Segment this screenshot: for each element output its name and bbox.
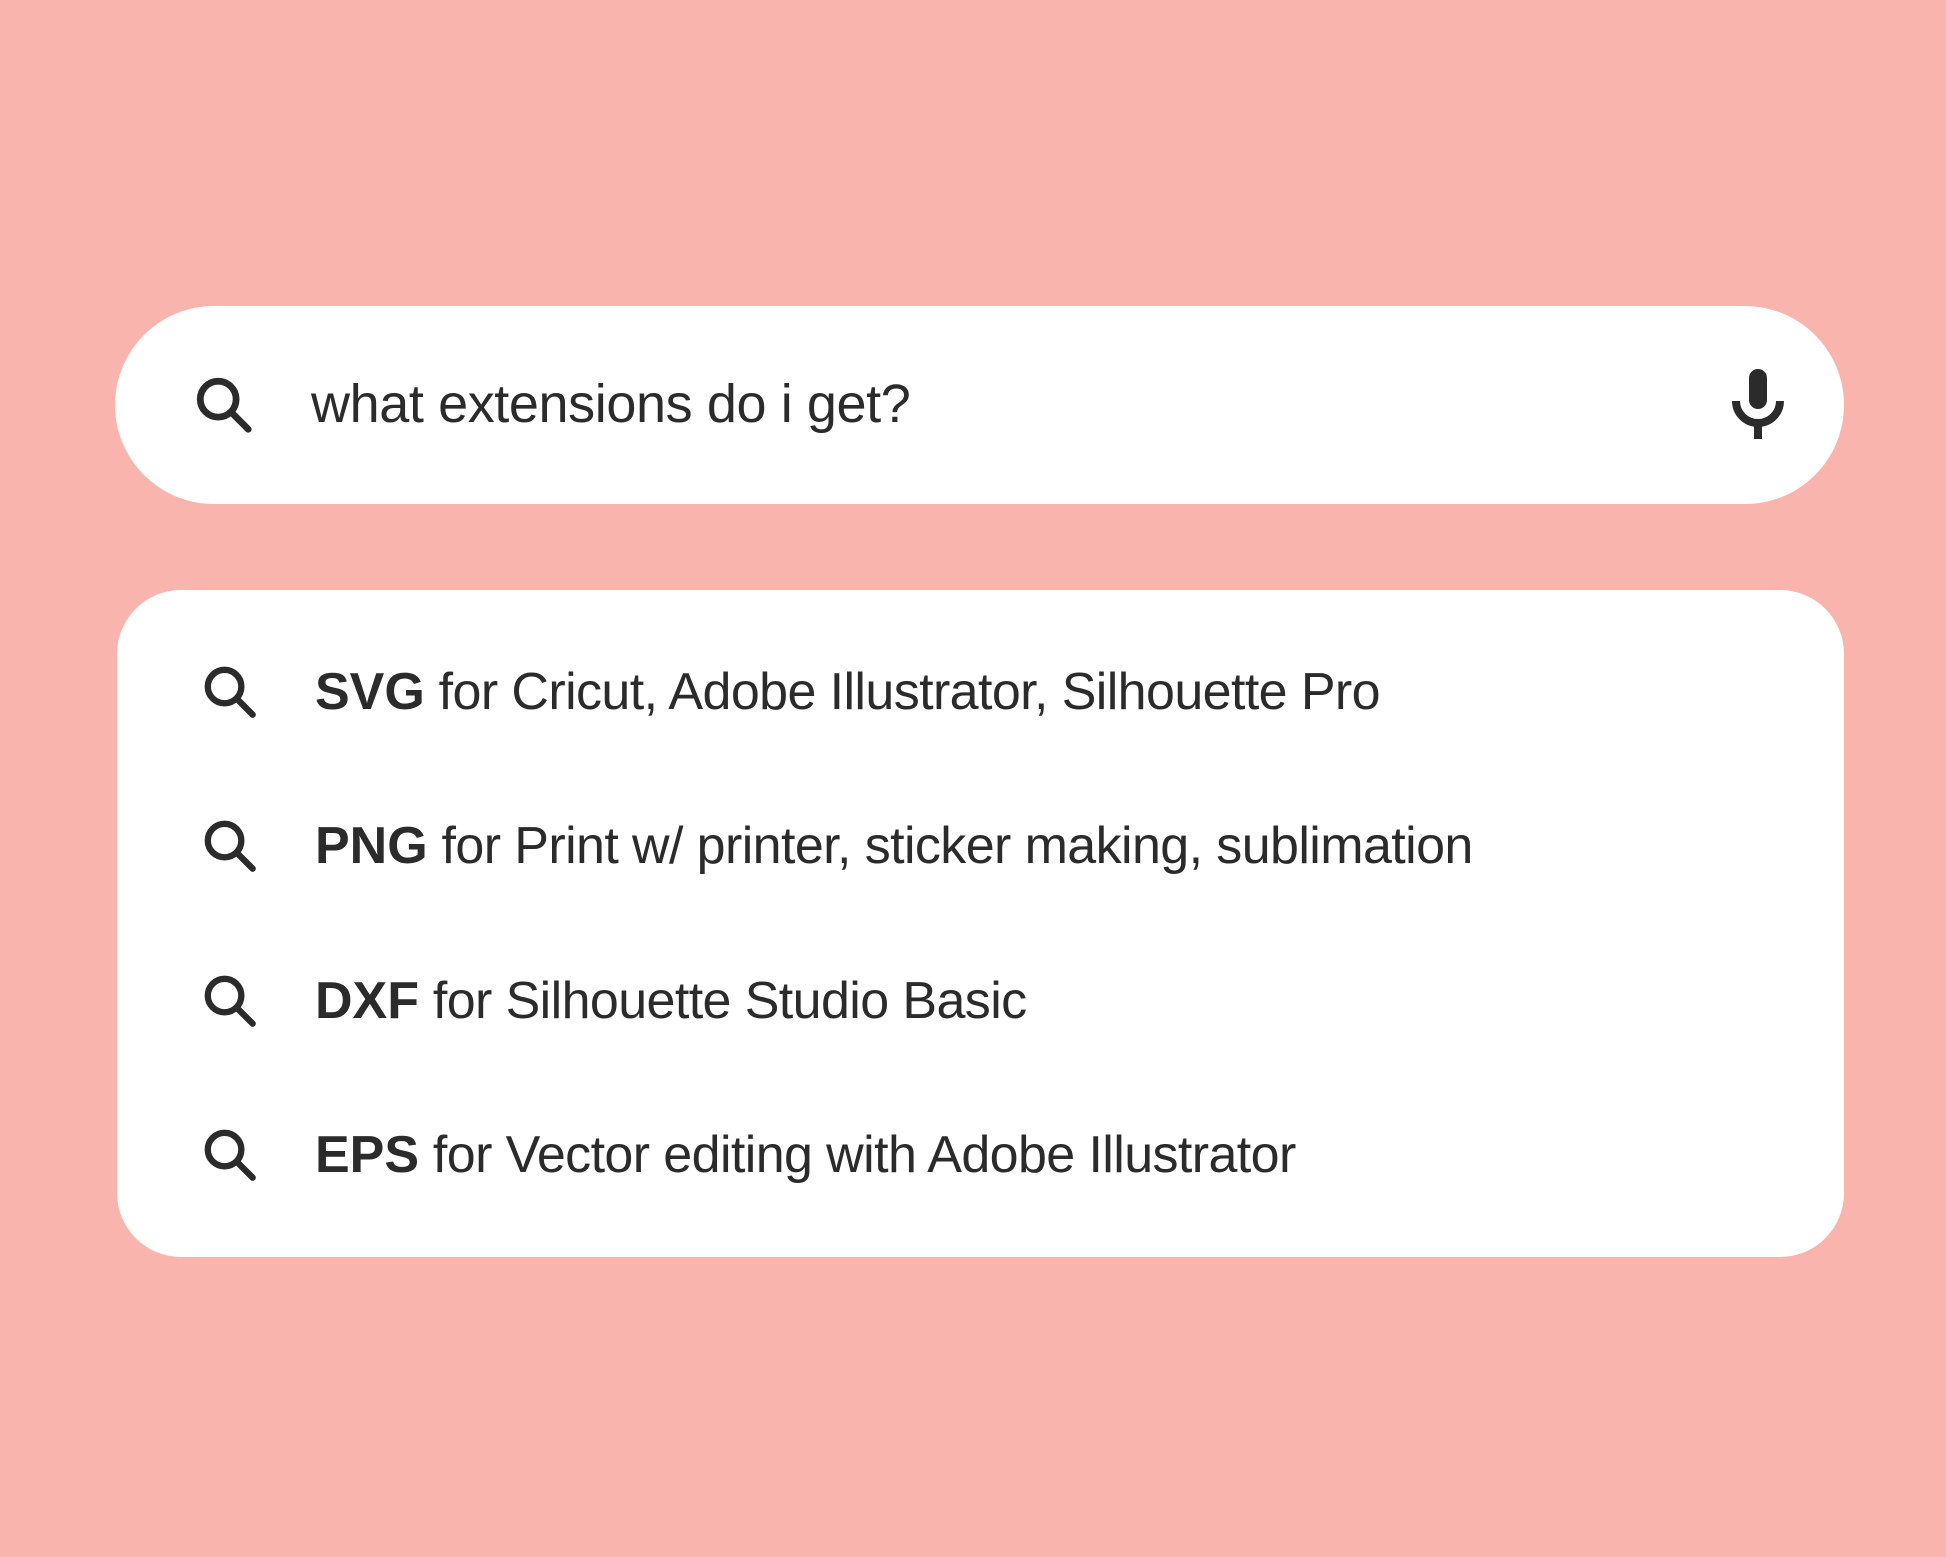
search-icon	[193, 374, 255, 436]
suggestion-description: for Print w/ printer, sticker making, su…	[428, 817, 1473, 875]
search-icon	[201, 663, 259, 721]
suggestion-description: for Vector editing with Adobe Illustrato…	[419, 1126, 1296, 1184]
suggestion-term: DXF	[315, 972, 419, 1030]
suggestion-description: for Cricut, Adobe Illustrator, Silhouett…	[425, 663, 1380, 721]
page-root: what extensions do i get? SVG for Cricut…	[0, 0, 1946, 1557]
suggestion-label: SVG for Cricut, Adobe Illustrator, Silho…	[315, 663, 1380, 721]
suggestion-term: EPS	[315, 1126, 419, 1184]
list-item[interactable]: PNG for Print w/ printer, sticker making…	[117, 790, 1844, 902]
suggestion-label: PNG for Print w/ printer, sticker making…	[315, 817, 1473, 875]
microphone-icon[interactable]	[1730, 367, 1786, 443]
suggestions-list: SVG for Cricut, Adobe Illustrator, Silho…	[117, 590, 1844, 1257]
suggestion-label: EPS for Vector editing with Adobe Illust…	[315, 1126, 1296, 1184]
list-item[interactable]: DXF for Silhouette Studio Basic	[117, 945, 1844, 1057]
suggestion-label: DXF for Silhouette Studio Basic	[315, 972, 1027, 1030]
search-icon	[201, 1126, 259, 1184]
list-item[interactable]: SVG for Cricut, Adobe Illustrator, Silho…	[117, 636, 1844, 748]
search-icon	[201, 817, 259, 875]
list-item[interactable]: EPS for Vector editing with Adobe Illust…	[117, 1099, 1844, 1211]
suggestion-term: PNG	[315, 817, 428, 875]
suggestion-term: SVG	[315, 663, 425, 721]
search-bar[interactable]: what extensions do i get?	[115, 306, 1844, 504]
search-input[interactable]: what extensions do i get?	[311, 375, 1706, 434]
search-icon	[201, 972, 259, 1030]
suggestion-description: for Silhouette Studio Basic	[419, 972, 1027, 1030]
